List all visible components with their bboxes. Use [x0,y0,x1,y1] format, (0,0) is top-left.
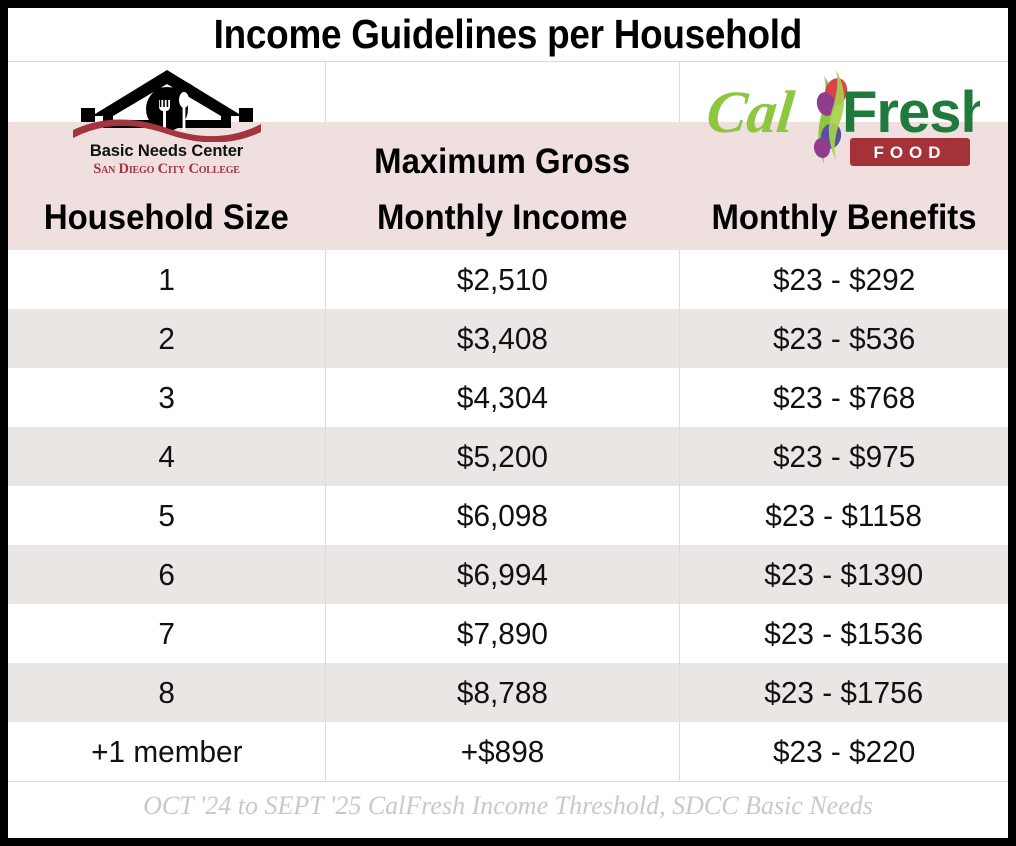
cell-household-size: 4 [8,427,325,486]
table-row: 8$8,788$23 - $1756 [8,663,1008,722]
cell-monthly-benefits: $23 - $1158 [680,486,1008,545]
table-row: 1$2,510$23 - $292 [8,250,1008,309]
cell-monthly-benefits-text: $23 - $1158 [766,498,923,534]
cell-household-size: 2 [8,309,325,368]
footer-row: OCT '24 to SEPT '25 CalFresh Income Thre… [8,782,1008,830]
cell-household-size-text: 6 [158,557,175,593]
cell-maximum-gross-monthly-income-text: $6,098 [457,498,548,534]
header-cell-maximum-gross-monthly-income: Maximum Gross Monthly Income [325,122,680,250]
table-row: 4$5,200$23 - $975 [8,427,1008,486]
cell-monthly-benefits-text: $23 - $536 [773,321,915,357]
cell-maximum-gross-monthly-income: $6,098 [325,486,680,545]
basic-needs-center-logo: Basic Needs Center San Diego City Colleg… [67,64,267,178]
cell-maximum-gross-monthly-income: $6,994 [325,545,680,604]
cell-household-size: 7 [8,604,325,663]
header-label-monthly-income: Monthly Income [377,190,627,246]
cell-monthly-benefits-text: $23 - $975 [773,439,915,475]
cell-monthly-benefits-text: $23 - $292 [773,262,915,298]
cell-monthly-benefits: $23 - $220 [680,722,1008,781]
cell-monthly-benefits-text: $23 - $220 [773,734,915,770]
cell-household-size: 5 [8,486,325,545]
table-row: 5$6,098$23 - $1158 [8,486,1008,545]
cell-monthly-benefits: $23 - $536 [680,309,1008,368]
cell-monthly-benefits: $23 - $1390 [680,545,1008,604]
table-row: +1 member+$898$23 - $220 [8,722,1008,781]
cell-maximum-gross-monthly-income: $7,890 [325,604,680,663]
cell-household-size-text: 2 [158,321,175,357]
calfresh-leaf-berry-icon: Cal Fresh FOOD [708,66,980,176]
svg-text:FOOD: FOOD [873,143,946,162]
cell-household-size: 1 [8,250,325,309]
income-table: Basic Needs Center San Diego City Colleg… [8,62,1008,781]
header-label-maximum-gross: Maximum Gross [375,134,631,190]
svg-text:Fresh: Fresh [842,80,980,145]
cell-monthly-benefits: $23 - $1536 [680,604,1008,663]
cell-monthly-benefits-text: $23 - $1390 [765,557,924,593]
cell-monthly-benefits-text: $23 - $768 [773,380,915,416]
basic-needs-logo-subtitle: San Diego City College [67,161,267,178]
cell-maximum-gross-monthly-income-text: $2,510 [457,262,548,298]
cell-monthly-benefits: $23 - $1756 [680,663,1008,722]
cell-monthly-benefits: $23 - $768 [680,368,1008,427]
cell-maximum-gross-monthly-income-text: $3,408 [457,321,548,357]
cell-maximum-gross-monthly-income-text: $5,200 [457,439,548,475]
cell-maximum-gross-monthly-income: $2,510 [325,250,680,309]
cell-household-size-text: 5 [158,498,175,534]
cell-household-size-text: 4 [158,439,175,475]
svg-text:Cal: Cal [708,79,798,146]
table-row: 6$6,994$23 - $1390 [8,545,1008,604]
table-body: 1$2,510$23 - $2922$3,408$23 - $5363$4,30… [8,250,1008,781]
header-label-monthly-benefits: Monthly Benefits [711,190,976,246]
cell-maximum-gross-monthly-income-text: $8,788 [457,675,548,711]
cell-household-size-text: 1 [158,262,175,298]
cell-household-size-text: 7 [158,616,175,652]
cell-monthly-benefits: $23 - $975 [680,427,1008,486]
cell-monthly-benefits: $23 - $292 [680,250,1008,309]
page-title: Income Guidelines per Household [214,11,802,58]
basic-needs-logo-cell: Basic Needs Center San Diego City Colleg… [8,62,325,122]
calfresh-logo: Cal Fresh FOOD [708,66,980,176]
cell-household-size: +1 member [8,722,325,781]
cell-monthly-benefits-text: $23 - $1536 [765,616,924,652]
calfresh-logo-cell: Cal Fresh FOOD [680,62,1008,122]
cell-household-size: 6 [8,545,325,604]
cell-maximum-gross-monthly-income: $8,788 [325,663,680,722]
table-row: 3$4,304$23 - $768 [8,368,1008,427]
logo-band-row: Basic Needs Center San Diego City Colleg… [8,62,1008,122]
cell-household-size-text: +1 member [91,734,242,770]
cell-maximum-gross-monthly-income-text: $7,890 [457,616,548,652]
cell-maximum-gross-monthly-income-text: $6,994 [457,557,548,593]
income-header-logo-cell [325,62,680,122]
cell-monthly-benefits-text: $23 - $1756 [765,675,924,711]
cell-maximum-gross-monthly-income: $3,408 [325,309,680,368]
cell-maximum-gross-monthly-income: $4,304 [325,368,680,427]
cell-household-size: 3 [8,368,325,427]
income-guidelines-infographic: Income Guidelines per Household [0,0,1016,846]
table-row: 2$3,408$23 - $536 [8,309,1008,368]
footer-note: OCT '24 to SEPT '25 CalFresh Income Thre… [143,791,873,821]
cell-maximum-gross-monthly-income-text: $4,304 [457,380,548,416]
table-row: 7$7,890$23 - $1536 [8,604,1008,663]
cell-household-size-text: 8 [158,675,175,711]
cell-maximum-gross-monthly-income-text: +$898 [461,734,545,770]
basic-needs-logo-name: Basic Needs Center [67,142,267,161]
house-apple-utensils-icon [67,64,267,142]
cell-maximum-gross-monthly-income: +$898 [325,722,680,781]
cell-maximum-gross-monthly-income: $5,200 [325,427,680,486]
cell-household-size: 8 [8,663,325,722]
cell-household-size-text: 3 [158,380,175,416]
title-row: Income Guidelines per Household [8,8,1008,62]
header-label-household-size: Household Size [44,190,289,246]
